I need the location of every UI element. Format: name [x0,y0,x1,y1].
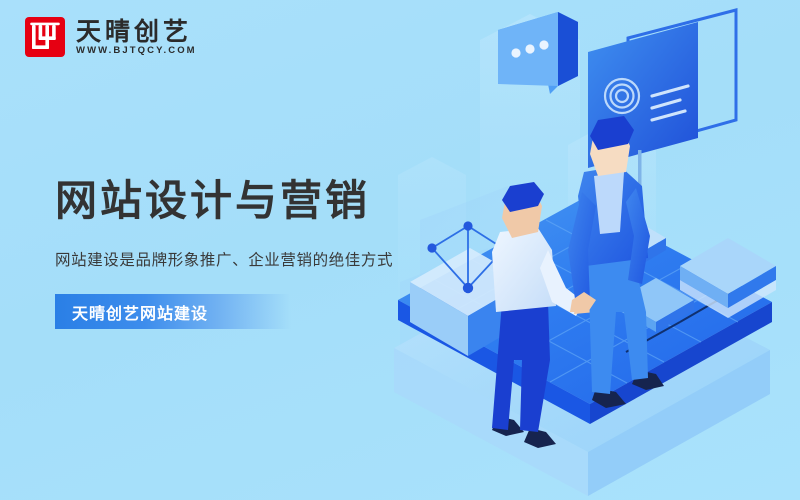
cta-button[interactable]: 天晴创艺网站建设 [55,294,291,329]
page-subtitle: 网站建设是品牌形象推广、企业营销的绝佳方式 [55,250,393,270]
brand-website: WWW.BJTQCY.COM [76,46,197,56]
brand-logo-text: 天晴创艺 WWW.BJTQCY.COM [76,19,197,56]
isometric-handshake-illustration [380,0,800,500]
brand-name: 天晴创艺 [76,19,197,45]
tianqing-square-logo-icon [24,16,66,58]
marketing-banner: 天晴创艺 WWW.BJTQCY.COM [0,0,800,500]
page-title: 网站设计与营销 [55,178,393,224]
cta-button-label: 天晴创艺网站建设 [55,300,208,324]
hero-copy: 网站设计与营销 网站建设是品牌形象推广、企业营销的绝佳方式 天晴创艺网站建设 [55,178,393,329]
brand-logo[interactable]: 天晴创艺 WWW.BJTQCY.COM [24,16,197,58]
chat-bubble-icon [498,12,578,94]
